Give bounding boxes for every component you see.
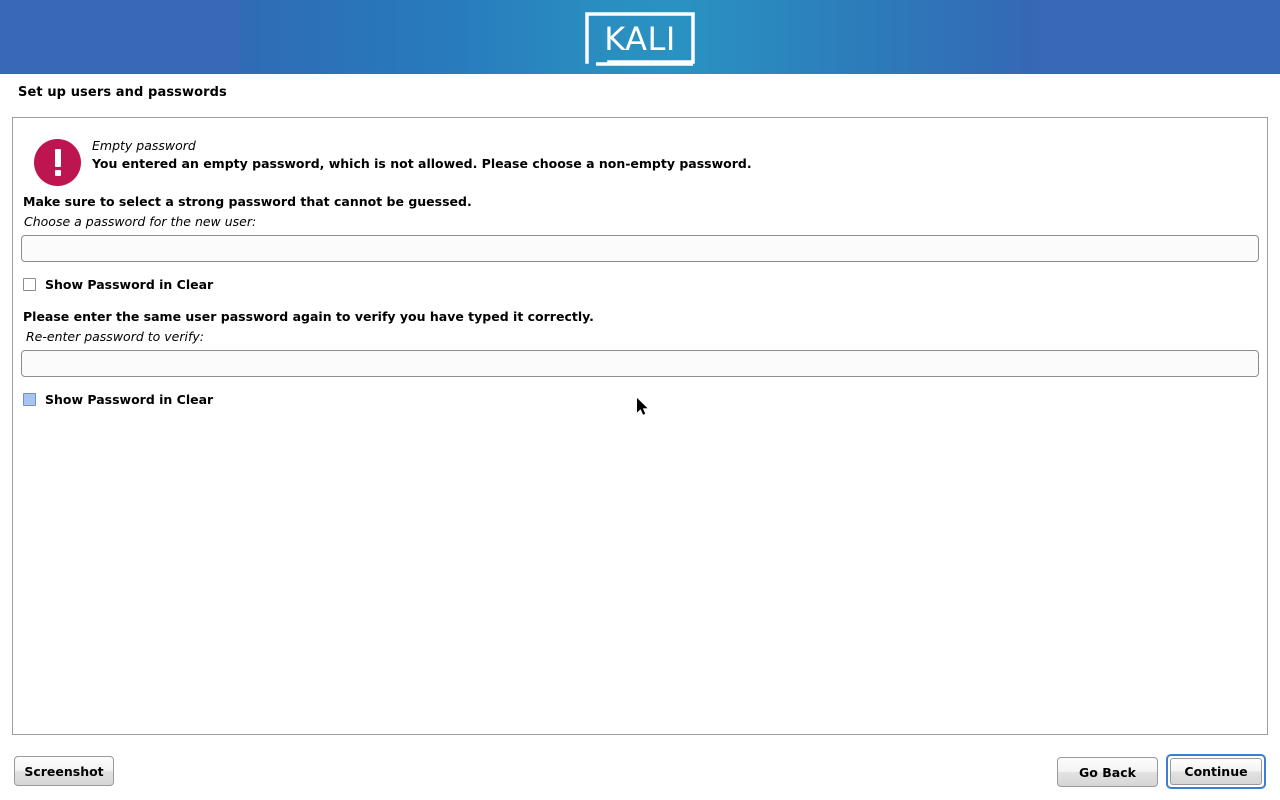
kali-logo-text: KALI [604, 20, 676, 58]
verify-password-input[interactable] [21, 350, 1259, 377]
kali-logo-icon: KALI [583, 10, 697, 66]
error-block: Empty password You entered an empty pass… [23, 128, 1253, 188]
verify-password-note: Please enter the same user password agai… [23, 309, 594, 324]
error-heading: Empty password [92, 138, 196, 153]
error-exclamation-icon [34, 139, 81, 186]
content-panel: Empty password You entered an empty pass… [12, 117, 1268, 735]
installer-banner: KALI [0, 0, 1280, 74]
error-message: You entered an empty password, which is … [92, 156, 752, 171]
show-password-checkbox-1[interactable] [23, 278, 36, 291]
banner-side-right [1040, 0, 1280, 74]
go-back-button[interactable]: Go Back [1057, 757, 1158, 787]
show-password-row-1[interactable]: Show Password in Clear [23, 277, 213, 292]
strong-password-note: Make sure to select a strong password th… [23, 194, 472, 209]
continue-button[interactable]: Continue [1170, 758, 1262, 785]
password-input[interactable] [21, 235, 1259, 262]
password-label: Choose a password for the new user: [24, 214, 256, 229]
exclamation-bar [55, 149, 61, 167]
show-password-row-2[interactable]: Show Password in Clear [23, 392, 213, 407]
banner-side-left [0, 0, 240, 74]
show-password-label-1: Show Password in Clear [45, 277, 213, 292]
exclamation-dot [55, 170, 61, 176]
verify-password-label: Re-enter password to verify: [26, 329, 204, 344]
show-password-checkbox-2[interactable] [23, 393, 36, 406]
continue-button-focus-ring: Continue [1166, 754, 1266, 789]
kali-installer-window: KALI Set up users and passwords Empty pa… [0, 0, 1280, 800]
screenshot-button[interactable]: Screenshot [14, 756, 114, 786]
page-title: Set up users and passwords [18, 85, 227, 100]
show-password-label-2: Show Password in Clear [45, 392, 213, 407]
